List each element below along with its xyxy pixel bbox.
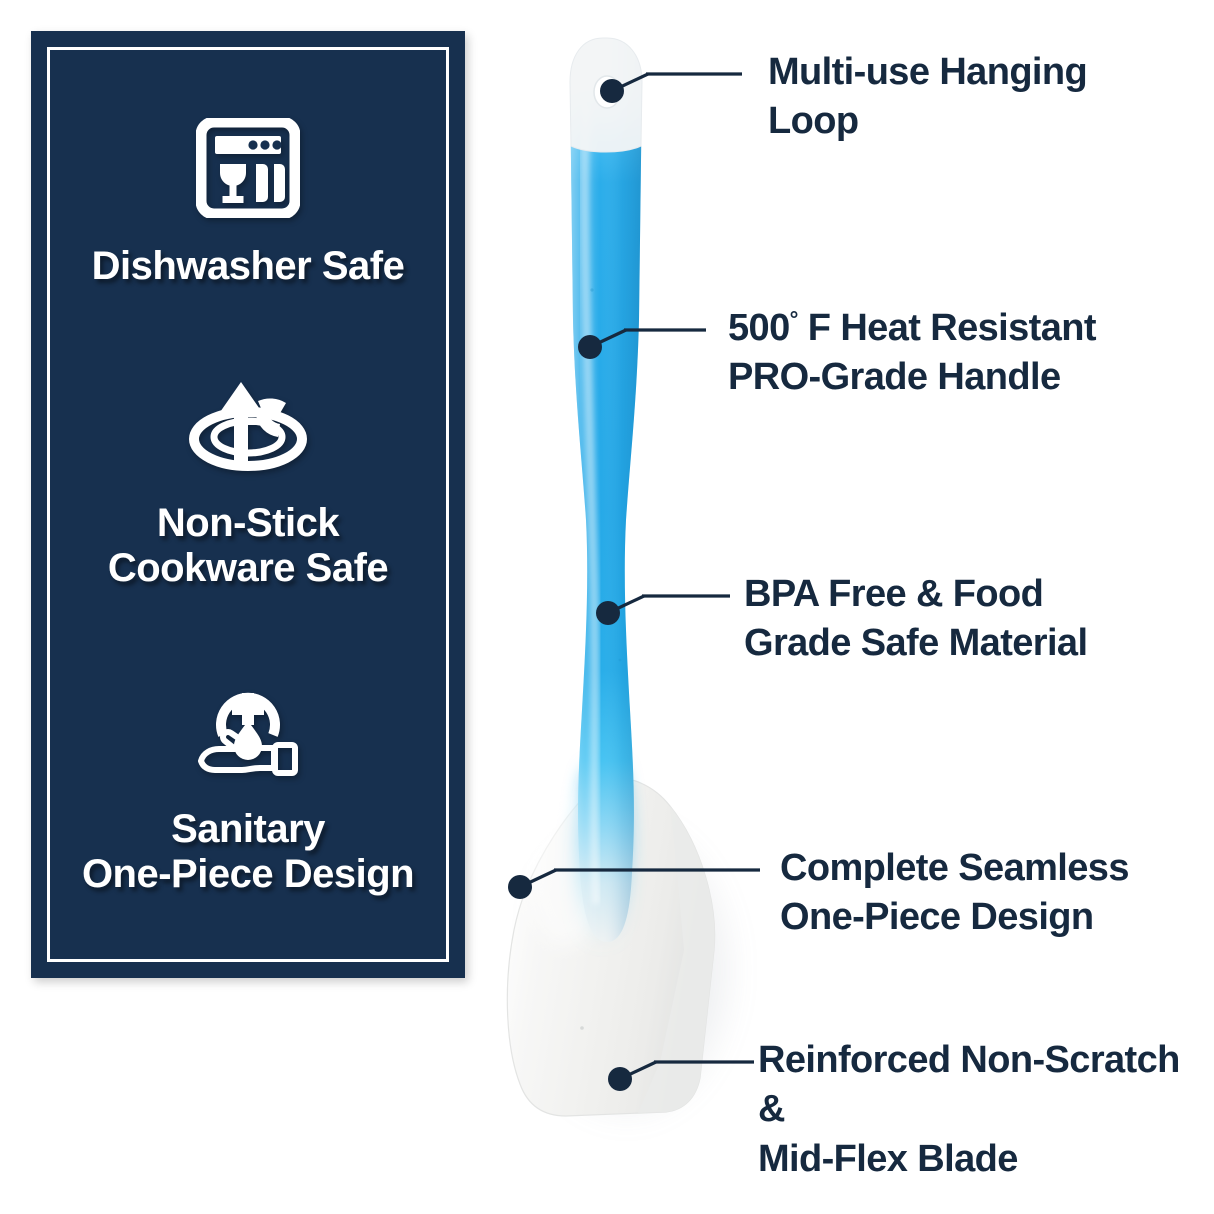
callout-hanging-loop: Multi-use HangingLoop xyxy=(600,52,1200,172)
leader-dot-heat-resistant xyxy=(578,335,602,359)
leader-line-heat-resistant xyxy=(578,308,738,368)
callout-non-scratch-blade: Reinforced Non-Scratch &Mid-Flex Blade xyxy=(608,1040,1208,1160)
callout-line2-bpa-free: Grade Safe Material xyxy=(744,622,1087,664)
leader-line-hanging-loop xyxy=(600,52,780,112)
callout-line2-seamless-design: One-Piece Design xyxy=(780,896,1094,938)
callout-seamless-design: Complete SeamlessOne-Piece Design xyxy=(508,848,1198,968)
callout-line1-non-scratch-blade: Reinforced Non-Scratch & xyxy=(758,1039,1180,1130)
degree-symbol: ° xyxy=(790,306,798,331)
callout-line1-bpa-free: BPA Free & Food xyxy=(744,573,1043,615)
feature-list: Dishwasher Safe xyxy=(31,31,465,978)
feature-label-dishwasher: Dishwasher Safe xyxy=(92,244,405,289)
feature-label-sanitary: Sanitary One-Piece Design xyxy=(82,807,414,897)
leader-dot-hanging-loop xyxy=(600,79,624,103)
sanitary-hand-icon xyxy=(187,673,309,781)
leader-line-seamless-design xyxy=(508,848,798,908)
feature-item-non-stick: Non-Stick Cookware Safe xyxy=(57,371,439,591)
callout-text-seamless-design: Complete SeamlessOne-Piece Design xyxy=(780,844,1129,943)
callout-text-non-scratch-blade: Reinforced Non-Scratch &Mid-Flex Blade xyxy=(758,1036,1208,1184)
dishwasher-icon xyxy=(196,118,300,218)
callout-bpa-free: BPA Free & FoodGrade Safe Material xyxy=(596,574,1196,694)
leader-dot-bpa-free xyxy=(596,601,620,625)
infographic-canvas: Dishwasher Safe xyxy=(0,0,1214,1214)
callout-line2-non-scratch-blade: Mid-Flex Blade xyxy=(758,1138,1018,1180)
leader-line-bpa-free xyxy=(596,574,756,634)
feature-item-dishwasher: Dishwasher Safe xyxy=(57,118,439,289)
callout-line1-seamless-design: Complete Seamless xyxy=(780,847,1129,889)
feature-label-non-stick: Non-Stick Cookware Safe xyxy=(108,501,388,591)
callout-line1-heat-resistant: F Heat Resistant xyxy=(798,307,1096,349)
non-stick-pan-icon xyxy=(184,371,312,475)
callout-heat-resistant: 500° F Heat ResistantPRO-Grade Handle xyxy=(578,308,1198,428)
leader-line-non-scratch-blade xyxy=(608,1040,768,1100)
feature-item-sanitary: Sanitary One-Piece Design xyxy=(57,673,439,897)
feature-panel: Dishwasher Safe xyxy=(31,31,465,978)
callout-text-heat-resistant: 500° F Heat ResistantPRO-Grade Handle xyxy=(728,304,1096,403)
callout-text-bpa-free: BPA Free & FoodGrade Safe Material xyxy=(744,570,1087,669)
callout-line1-hanging-loop: Multi-use Hanging xyxy=(768,51,1087,93)
leader-dot-seamless-design xyxy=(508,875,532,899)
callout-text-hanging-loop: Multi-use HangingLoop xyxy=(768,48,1087,147)
callout-line2-heat-resistant: PRO-Grade Handle xyxy=(728,356,1060,398)
callout-line2-hanging-loop: Loop xyxy=(768,100,858,142)
leader-dot-non-scratch-blade xyxy=(608,1067,632,1091)
callout-temperature-value: 500 xyxy=(728,307,790,349)
